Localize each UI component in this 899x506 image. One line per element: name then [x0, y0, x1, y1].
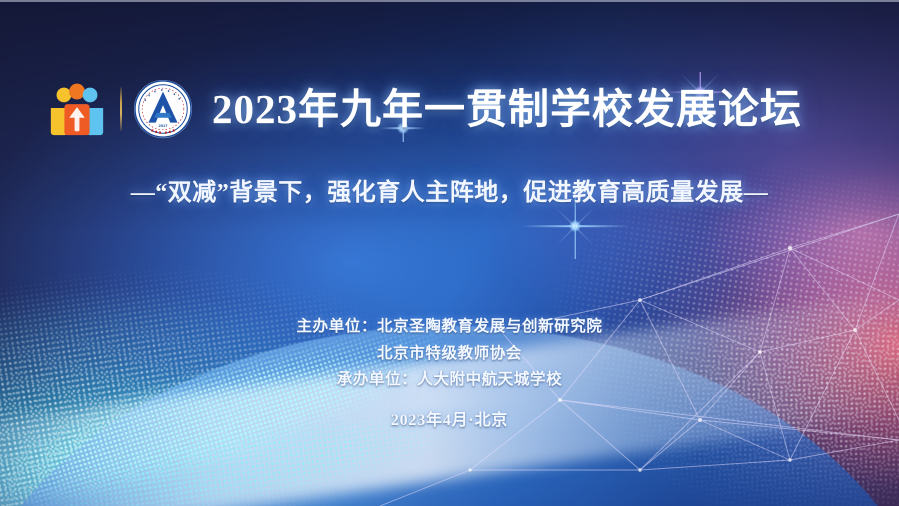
organizer-line-2: 北京市特级教师协会 [0, 341, 899, 368]
logo-divider [120, 87, 122, 131]
page-title: 2023年九年一贯制学校发展论坛 [212, 89, 802, 130]
organizer-line-3: 承办单位：人大附中航天城学校 [0, 367, 899, 394]
people-group-logo [46, 78, 108, 140]
title-header-row: 2017 [46, 78, 802, 140]
organizer-block: 主办单位：北京圣陶教育发展与创新研究院 北京市特级教师协会 承办单位：人大附中航… [0, 314, 899, 434]
date-location-line: 2023年4月·北京 [0, 407, 899, 435]
academy-seal-logo: 2017 [132, 78, 194, 140]
organizer-line-1: 主办单位：北京圣陶教育发展与创新研究院 [0, 314, 899, 341]
poster-subtitle: —“双减”背景下，强化育人主阵地，促进教育高质量发展— [0, 172, 899, 207]
seal-year-text: 2017 [158, 123, 168, 128]
poster-banner: 2017 [0, 0, 899, 506]
